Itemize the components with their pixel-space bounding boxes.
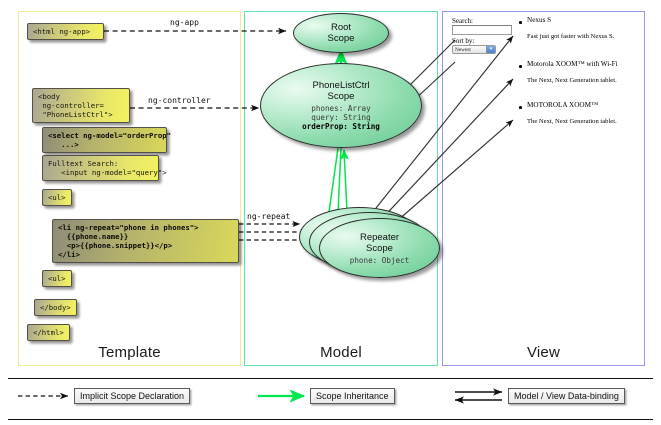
legend: Implicit Scope Declaration Scope Inherit…: [8, 378, 653, 420]
edge-label-ng-repeat: ng-repeat: [245, 212, 292, 221]
view-phone-snippet: The Next, Next Generation tablet.: [527, 77, 617, 84]
view-phone-snippet: Fast just got faster with Nexus S.: [527, 33, 614, 40]
scope-phonelistctrl-title: PhoneListCtrl Scope: [312, 80, 369, 102]
code-box-select: <select ng-model="orderProp" ...>: [42, 127, 167, 153]
panel-label-template: Template: [19, 344, 240, 361]
legend-item-implicit-scope-declaration: Implicit Scope Declaration: [74, 388, 190, 404]
list-bullet-icon: [519, 21, 522, 24]
view-phone-name[interactable]: MOTOROLA XOOM™: [527, 101, 598, 109]
panel-label-model: Model: [245, 344, 437, 361]
view-sort-selected-value: Newest: [455, 47, 471, 53]
code-box-li-repeat: <li ng-repeat="phone in phones"> {{phone…: [52, 219, 239, 263]
code-box-body-open: <body ng-controller= "PhoneListCtrl">: [32, 88, 130, 123]
view-search-input[interactable]: [452, 25, 512, 35]
legend-item-model-view-data-binding: Model / View Data-binding: [508, 388, 625, 404]
view-phone-snippet: The Next, Next Generation tablet.: [527, 118, 617, 125]
scope-root: Root Scope: [293, 13, 389, 53]
code-box-ul-open: <ul>: [42, 189, 72, 206]
legend-item-scope-inheritance: Scope Inheritance: [310, 388, 395, 404]
scope-phonelistctrl-properties: phones: Array query: String orderProp: S…: [302, 104, 380, 131]
scope-repeater: Repeater Scope phone: Object: [319, 218, 440, 278]
view-sort-select[interactable]: Newest ▾: [452, 45, 496, 54]
edge-label-ng-app: ng-app: [168, 18, 201, 27]
view-sort-label: Sort by:: [452, 37, 474, 45]
view-phone-name[interactable]: Nexus S: [527, 16, 551, 24]
code-box-input: Fulltext Search: <input ng-model="query"…: [42, 155, 159, 181]
code-box-body-close: </body>: [34, 299, 77, 316]
list-bullet-icon: [519, 106, 522, 109]
list-bullet-icon: [519, 65, 522, 68]
code-box-ul-close: <ul>: [42, 270, 72, 287]
scope-repeater-properties: phone: Object: [350, 256, 409, 265]
view-search-label: Search:: [452, 17, 473, 25]
scope-root-title: Root Scope: [328, 22, 355, 44]
view-phone-name[interactable]: Motorola XOOM™ with Wi-Fi: [527, 60, 618, 68]
code-box-html-open: <html ng-app>: [27, 23, 104, 40]
chevron-down-icon: ▾: [486, 46, 495, 53]
scope-repeater-title: Repeater Scope: [360, 232, 399, 254]
diagram-canvas: Template Model View: [0, 0, 661, 425]
scope-phonelistctrl: PhoneListCtrl Scope phones: Array query:…: [260, 63, 422, 148]
panel-label-view: View: [443, 344, 644, 361]
code-box-html-close: </html>: [27, 324, 70, 341]
edge-label-ng-controller: ng-controller: [146, 96, 213, 105]
